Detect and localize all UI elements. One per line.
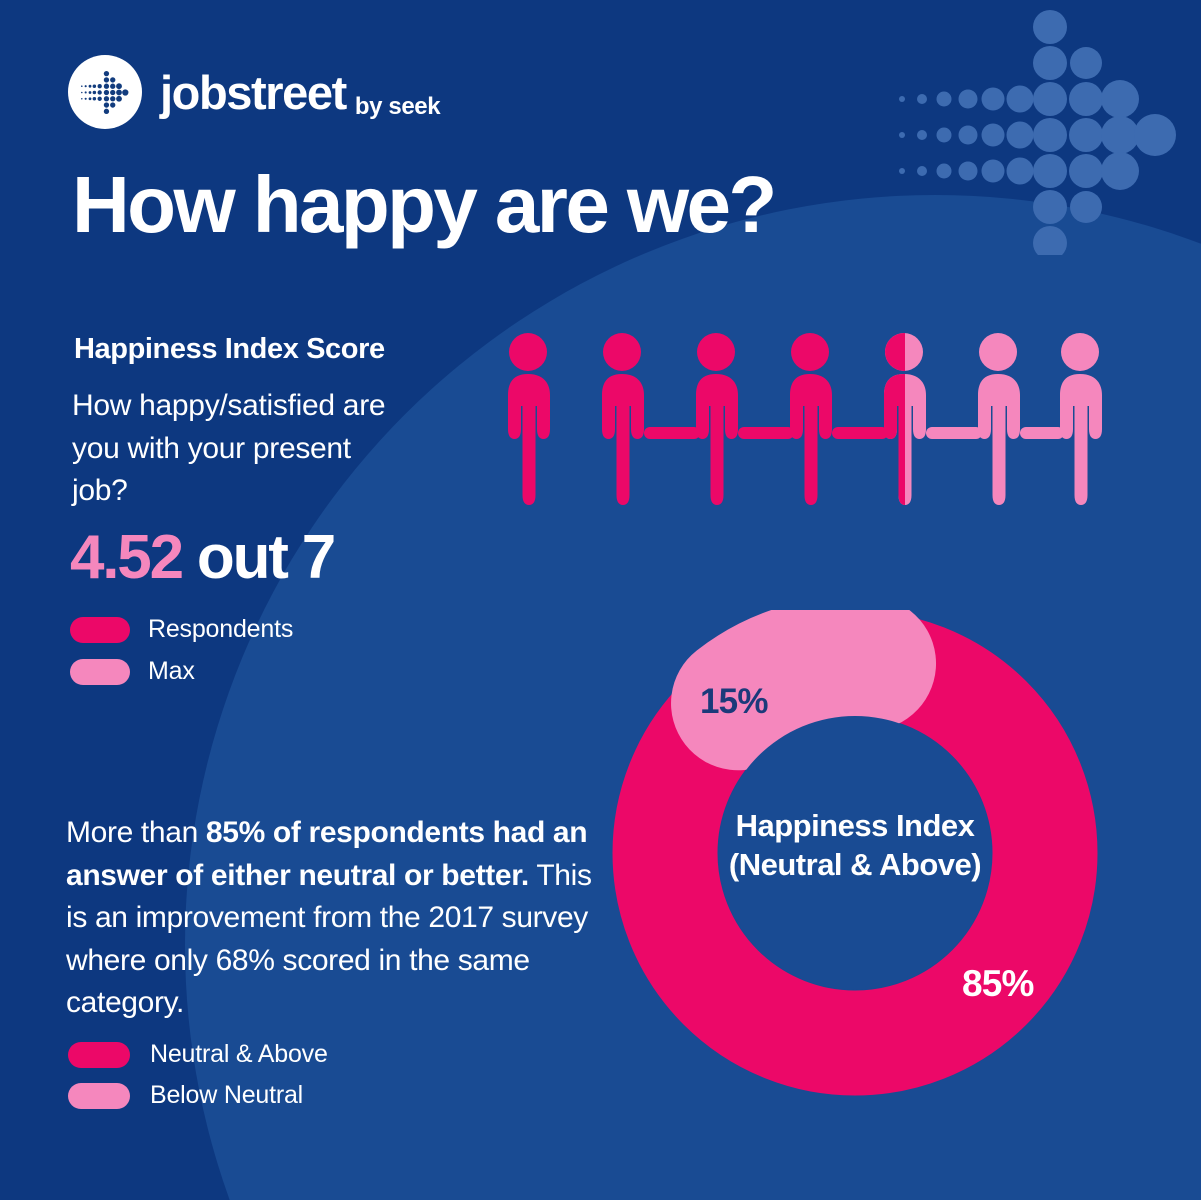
- dot-arrow-decoration: [880, 5, 1200, 255]
- people-pictogram-chart: [494, 333, 1102, 505]
- page-title: How happy are we?: [72, 163, 775, 247]
- legend-swatch-max: [70, 659, 130, 685]
- score-suffix: out 7: [182, 523, 334, 592]
- score-legend: Respondents Max: [70, 615, 293, 686]
- body-lead: More than: [66, 816, 206, 849]
- legend-label-neutral-and-above: Neutral & Above: [150, 1040, 328, 1069]
- score-number: 4.52: [70, 523, 182, 592]
- legend-item-neutral-and-above: Neutral & Above: [68, 1040, 328, 1069]
- legend-swatch-below-neutral: [68, 1083, 130, 1109]
- survey-question-text: How happy/satisfied are you with your pr…: [72, 385, 402, 513]
- legend-label-below-neutral: Below Neutral: [150, 1081, 303, 1110]
- legend-swatch-respondents: [70, 617, 130, 643]
- legend-label-respondents: Respondents: [148, 615, 293, 644]
- jobstreet-dot-arrow-logo-icon: [68, 55, 142, 129]
- score-value: 4.52 out 7: [70, 527, 334, 589]
- legend-item-max: Max: [70, 657, 293, 686]
- brand-tagline: by seek: [355, 93, 440, 121]
- legend-swatch-neutral-and-above: [68, 1042, 130, 1068]
- donut-hole: [718, 716, 992, 990]
- donut-chart: [612, 610, 1098, 1096]
- legend-item-below-neutral: Below Neutral: [68, 1081, 328, 1110]
- legend-item-respondents: Respondents: [70, 615, 293, 644]
- brand-wordmark: jobstreet: [160, 69, 346, 116]
- legend-label-max: Max: [148, 657, 195, 686]
- infographic-canvas: jobstreet by seek How happy are we? Happ…: [0, 0, 1201, 1200]
- brand-logo[interactable]: jobstreet by seek: [68, 55, 440, 129]
- donut-legend: Neutral & Above Below Neutral: [68, 1040, 328, 1110]
- body-paragraph: More than 85% of respondents had an answ…: [66, 812, 596, 1025]
- section-heading-happiness-index-score: Happiness Index Score: [74, 333, 385, 366]
